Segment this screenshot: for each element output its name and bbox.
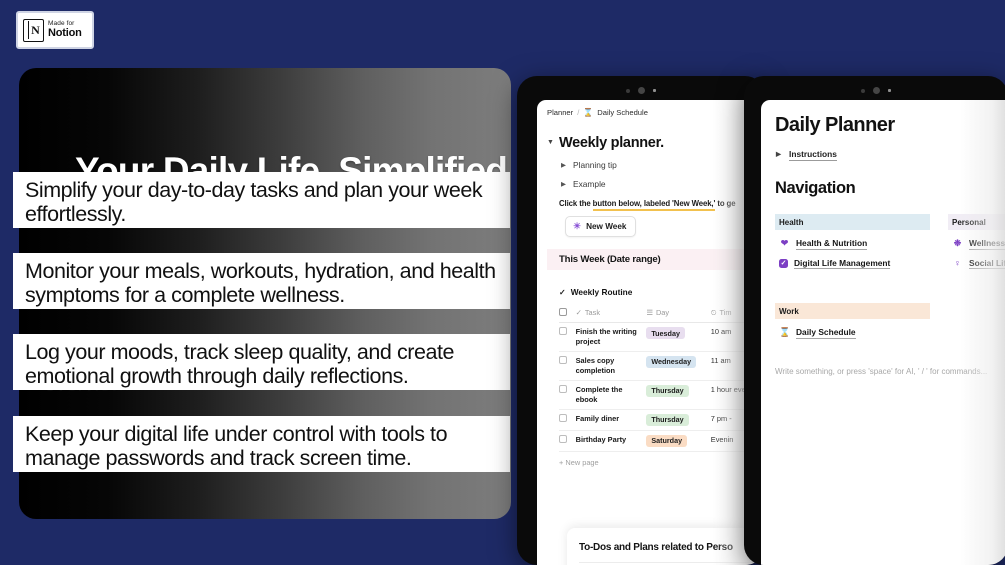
new-page-button[interactable]: + New page: [559, 458, 765, 467]
cell-task: Finish the writing project: [576, 323, 647, 352]
notion-logo-icon: N: [23, 19, 44, 42]
tablet-screen-right: Daily Planner ▶ Instructions Navigation …: [761, 100, 1005, 565]
day-tag: Wednesday: [646, 356, 696, 368]
breadcrumb-separator: /: [577, 108, 579, 117]
chevron-right-icon[interactable]: ▶: [561, 161, 566, 169]
cell-day: Thursday: [646, 409, 710, 430]
feature-band: Log your moods, track sleep quality, and…: [13, 334, 510, 390]
day-tag: Thursday: [646, 385, 688, 397]
table-row[interactable]: Finish the writing project Tuesday 10 am: [559, 323, 765, 352]
badge-brand-label: Notion: [48, 28, 82, 40]
sensor-dot-icon: [861, 89, 865, 93]
tablet-device-middle: Planner / ⌛ Daily Schedule ▼ Weekly plan…: [517, 76, 765, 565]
navigation-heading: Navigation: [775, 179, 1005, 198]
breadcrumb: Planner / ⌛ Daily Schedule: [547, 108, 765, 117]
check-icon: ✓: [576, 308, 582, 317]
tablet-screen-middle: Planner / ⌛ Daily Schedule ▼ Weekly plan…: [537, 100, 765, 565]
instructions-label: Instructions: [789, 149, 837, 159]
toggle-planning-tip[interactable]: ▶ Planning tip: [573, 160, 765, 170]
flower-icon: ❉: [952, 239, 963, 248]
nav-column-work: Work ⌛ Daily Schedule: [775, 303, 930, 339]
person-icon: ♀: [952, 259, 963, 268]
cell-day: Thursday: [646, 380, 710, 409]
new-page-label: New page: [565, 458, 598, 467]
table-row[interactable]: Sales copy completion Wednesday 11 am: [559, 351, 765, 380]
day-tag: Thursday: [646, 414, 688, 426]
column-header-day[interactable]: ☰Day: [646, 304, 710, 323]
checkbox-icon[interactable]: [559, 385, 567, 393]
row-checkbox-cell[interactable]: [559, 351, 576, 380]
cell-task: Family diner: [576, 409, 647, 430]
feature-text: Monitor your meals, workouts, hydration,…: [25, 259, 500, 307]
column-header-task-label: Task: [585, 308, 600, 317]
feature-band: Monitor your meals, workouts, hydration,…: [13, 253, 510, 309]
chevron-right-icon[interactable]: ▶: [776, 150, 781, 158]
column-header-day-label: Day: [656, 308, 669, 317]
table-row[interactable]: Family diner Thursday 7 pm -: [559, 409, 765, 430]
todos-card: To-Dos and Plans related to Perso To-do: [567, 528, 765, 565]
checkbox-icon[interactable]: [559, 327, 567, 335]
toggle-example[interactable]: ▶ Example: [573, 179, 765, 189]
sensor-dot-icon: [626, 89, 630, 93]
new-week-button[interactable]: ☀ New Week: [565, 216, 636, 237]
row-checkbox-cell[interactable]: [559, 409, 576, 430]
instruction-suffix: to ge: [715, 199, 735, 208]
cell-task: Complete the ebook: [576, 380, 647, 409]
nav-link-label: Daily Schedule: [796, 327, 856, 339]
sun-icon: ☀: [573, 221, 581, 232]
check-icon: ✓: [559, 288, 566, 297]
toggle-label: Planning tip: [573, 160, 617, 170]
hourglass-icon: ⌛: [583, 108, 593, 117]
table-header-row: ✓Task ☰Day ⏲Tim: [559, 304, 765, 323]
feature-text: Simplify your day-to-day tasks and plan …: [25, 178, 500, 226]
cell-day: Saturday: [646, 430, 710, 451]
date-range-band: This Week (Date range): [547, 249, 752, 270]
nav-link-digital-life-management[interactable]: ✓ Digital Life Management: [775, 258, 930, 270]
nav-link-label: Wellness an: [969, 238, 1005, 250]
checkbox-icon[interactable]: [559, 414, 567, 422]
indicator-dot-icon: [653, 89, 656, 92]
made-for-notion-badge: N Made for Notion: [16, 11, 94, 49]
chevron-down-icon[interactable]: ▼: [547, 139, 554, 146]
instruction-paragraph: Click the button below, labeled 'New Wee…: [559, 199, 765, 208]
nav-link-social-life[interactable]: ♀ Social Life: [948, 258, 1005, 270]
tablet-sensor-array: [517, 86, 765, 95]
editor-placeholder[interactable]: Write something, or press 'space' for AI…: [775, 367, 1005, 376]
heart-icon: ❤: [779, 239, 790, 248]
nav-column-header: Health: [775, 214, 930, 230]
camera-lens-icon: [638, 87, 645, 94]
hourglass-icon: ⌛: [779, 328, 790, 337]
nav-column-health: Health ❤ Health & Nutrition ✓ Digital Li…: [775, 214, 930, 269]
cell-task: Sales copy completion: [576, 351, 647, 380]
checkbox-icon: ✓: [779, 259, 788, 268]
instructions-toggle[interactable]: ▶ Instructions: [789, 149, 837, 161]
breadcrumb-root[interactable]: Planner: [547, 108, 573, 117]
day-tag: Saturday: [646, 435, 687, 447]
clock-icon: ⏲: [711, 308, 717, 317]
todos-card-title: To-Dos and Plans related to Perso: [579, 542, 765, 553]
nav-column-header: Work: [775, 303, 930, 319]
divider: [579, 562, 759, 563]
table-row[interactable]: Birthday Party Saturday Evenin: [559, 430, 765, 451]
feature-text: Log your moods, track sleep quality, and…: [25, 340, 500, 388]
notion-page-heading-label: Weekly planner.: [559, 135, 664, 151]
nav-link-label: Health & Nutrition: [796, 238, 867, 250]
new-week-button-label: New Week: [586, 222, 626, 231]
table-row[interactable]: Complete the ebook Thursday 1 hour eveni…: [559, 380, 765, 409]
nav-link-label: Digital Life Management: [794, 258, 890, 270]
list-icon: ☰: [646, 308, 653, 317]
tablet-device-right: Daily Planner ▶ Instructions Navigation …: [744, 76, 1005, 565]
instruction-highlight: button below, labeled 'New Week,': [593, 199, 716, 211]
cell-day: Tuesday: [646, 323, 710, 352]
row-checkbox-cell[interactable]: [559, 430, 576, 451]
cell-task: Birthday Party: [576, 430, 647, 451]
nav-link-wellness[interactable]: ❉ Wellness an: [948, 238, 1005, 250]
checkbox-icon[interactable]: [559, 435, 567, 443]
column-header-checkbox[interactable]: [559, 304, 576, 323]
indicator-dot-icon: [888, 89, 891, 92]
cell-day: Wednesday: [646, 351, 710, 380]
nav-link-daily-schedule[interactable]: ⌛ Daily Schedule: [775, 327, 930, 339]
instruction-prefix: Click the: [559, 199, 593, 208]
column-header-task[interactable]: ✓Task: [576, 304, 647, 323]
feature-band: Keep your digital life under control wit…: [13, 416, 510, 472]
nav-column-header: Personal: [948, 214, 1005, 230]
row-checkbox-cell[interactable]: [559, 323, 576, 352]
day-tag: Tuesday: [646, 327, 685, 339]
feature-band: Simplify your day-to-day tasks and plan …: [13, 172, 510, 228]
notion-page-heading: ▼ Weekly planner.: [559, 135, 765, 151]
chevron-right-icon[interactable]: ▶: [561, 180, 566, 188]
column-header-time-label: Tim: [720, 308, 732, 317]
nav-link-health-nutrition[interactable]: ❤ Health & Nutrition: [775, 238, 930, 250]
daily-planner-title: Daily Planner: [775, 114, 1005, 137]
row-checkbox-cell[interactable]: [559, 380, 576, 409]
checkbox-icon[interactable]: [559, 308, 567, 316]
notion-logo-letter: N: [31, 24, 40, 36]
breadcrumb-current[interactable]: Daily Schedule: [597, 108, 648, 117]
camera-lens-icon: [873, 87, 880, 94]
feature-text: Keep your digital life under control wit…: [25, 422, 500, 470]
database-title: ✓ Weekly Routine: [559, 287, 765, 297]
weekly-routine-table: ✓Task ☰Day ⏲Tim Finish the writing proje…: [559, 304, 765, 452]
tablet-sensor-array: [744, 86, 1005, 95]
checkbox-icon[interactable]: [559, 356, 567, 364]
database-title-label: Weekly Routine: [571, 287, 633, 297]
toggle-label: Example: [573, 179, 606, 189]
nav-link-label: Social Life: [969, 258, 1005, 270]
nav-column-personal: Personal ❉ Wellness an ♀ Social Life: [948, 214, 1005, 269]
